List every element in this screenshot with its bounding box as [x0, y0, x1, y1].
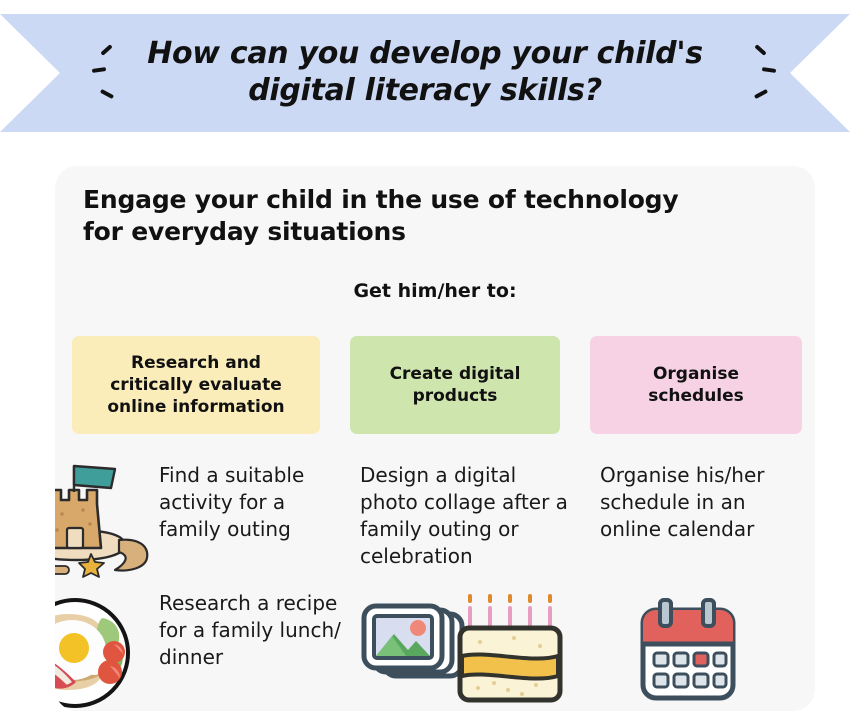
category-chip-create[interactable]: Create digital products: [350, 336, 560, 434]
category-chip-research[interactable]: Research and critically evaluate online …: [72, 336, 320, 434]
card-heading: Engage your child in the use of technolo…: [83, 184, 783, 247]
chip-line-3: online information: [107, 397, 284, 417]
chip-line-1: Organise: [653, 364, 739, 384]
chip-line-2: critically evaluate: [110, 375, 282, 395]
sandcastle-icon: [55, 462, 155, 587]
breakfast-plate-icon-svg: [55, 596, 140, 711]
chip-line-2: products: [413, 386, 498, 406]
category-chip-research-label: Research and critically evaluate online …: [107, 352, 284, 418]
category-chip-organise-label: Organise schedules: [648, 363, 744, 407]
example-text-2-1: Research a recipe for a family lunch/ di…: [159, 590, 344, 671]
banner-title-line-2: digital literacy skills?: [248, 73, 602, 110]
example-text-1-1: Find a suitable activity for a family ou…: [159, 462, 344, 543]
category-chip-create-label: Create digital products: [390, 363, 521, 407]
photo-stack-icon-svg: [364, 606, 462, 676]
photo-stack-and-cake-icon-svg: [348, 590, 578, 710]
example-row-2: Research a recipe for a family lunch/ di…: [55, 590, 815, 711]
create-digital-icons: [348, 590, 578, 711]
example-row-1: Find a suitable activity for a family ou…: [55, 462, 815, 592]
content-card: Engage your child in the use of technolo…: [55, 166, 815, 711]
example-text-1-2: Design a digital photo collage after a f…: [360, 462, 575, 570]
chip-line-1: Research and: [131, 353, 261, 373]
category-chip-group: Research and critically evaluate online …: [72, 336, 802, 434]
banner: How can you develop your child's digital…: [0, 14, 850, 132]
page-title: How can you develop your child's digital…: [0, 14, 850, 132]
category-chip-organise[interactable]: Organise schedules: [590, 336, 802, 434]
chip-line-2: schedules: [648, 386, 744, 406]
breakfast-plate-icon: [55, 596, 140, 711]
card-heading-line-2: for everyday situations: [83, 216, 783, 248]
card-subheading: Get him/her to:: [55, 280, 815, 302]
calendar-icon: [633, 596, 743, 711]
sandcastle-icon-svg: [55, 462, 155, 582]
example-text-1-3: Organise his/her schedule in an online c…: [600, 462, 800, 543]
card-heading-line-1: Engage your child in the use of technolo…: [83, 184, 783, 216]
chip-line-1: Create digital: [390, 364, 521, 384]
banner-title-line-1: How can you develop your child's: [147, 36, 703, 73]
calendar-icon-svg: [633, 596, 743, 706]
birthday-cake-icon-svg: [460, 594, 560, 700]
